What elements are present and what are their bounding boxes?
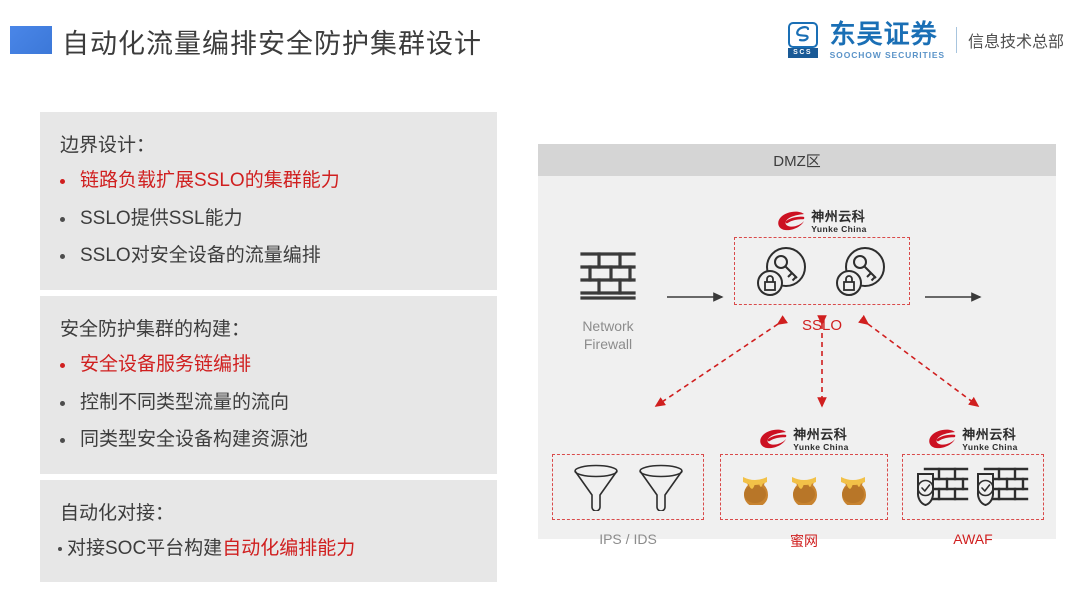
awaf-label: AWAF [902,531,1044,547]
node-honeynet: 神州云科 Yunke China [720,428,888,551]
bullet-item: 对接SOC平台构建自动化编排能力 [40,530,497,568]
bullet-item: SSLO提供SSL能力 [40,200,497,238]
panel-heading: 自动化对接： [40,493,497,530]
yunke-name-cn: 神州云科 [811,210,866,224]
dmz-zone-label: DMZ区 [773,150,821,171]
bullet-text-plain: 对接SOC平台构建 [67,538,222,559]
honeypot-icon [787,469,821,505]
arrow-sslo-ips [656,324,778,406]
bullet-text: 安全设备服务链编排 [80,352,251,378]
yunke-vendor-logo: 神州云科 Yunke China [759,428,848,452]
bullet-item: 同类型安全设备构建资源池 [40,421,497,459]
panel-automation-integration: 自动化对接： 对接SOC平台构建自动化编排能力 [40,480,497,583]
yunke-swoosh-icon [928,429,958,451]
bullet-dot-icon [60,438,65,443]
bullet-text: 同类型安全设备构建资源池 [80,427,308,453]
yunke-swoosh-icon [777,211,807,233]
awaf-device-group [902,454,1044,520]
node-sslo: 神州云科 Yunke China [734,210,910,334]
dmz-zone-header: DMZ区 [538,144,1056,176]
brick-wall-icon [578,248,638,304]
sslo-device-group [734,237,910,305]
yunke-name-en: Yunke China [811,224,866,234]
brand-text: 东吴证券 SOOCHOW SECURITIES [830,21,945,60]
bullet-item: 安全设备服务链编排 [40,346,497,384]
brand-divider [956,27,957,53]
bullet-item: 链路负载扩展SSLO的集群能力 [40,162,497,200]
yunke-name-cn: 神州云科 [962,428,1017,442]
yunke-vendor-logo: 神州云科 Yunke China [777,210,866,234]
bullet-text: SSLO对安全设备的流量编排 [80,243,321,269]
yunke-name-en: Yunke China [962,442,1017,452]
key-lock-icon [833,245,891,297]
architecture-diagram: DMZ区 [538,144,1056,539]
bullet-item: 控制不同类型流量的流向 [40,384,497,422]
funnel-icon [636,463,686,511]
scs-badge: SCS [788,48,818,58]
bullet-text: SSLO提供SSL能力 [80,206,243,232]
brand-lockup: SCS 东吴证券 SOOCHOW SECURITIES 信息技术总部 [788,20,1064,60]
honeypot-icon [836,469,870,505]
ips-device-group [552,454,704,520]
honeynet-label: 蜜网 [720,531,888,551]
honeynet-device-group [720,454,888,520]
panel-heading: 安全防护集群的构建： [40,309,497,346]
bullet-dot-icon [60,401,65,406]
arrow-firewall-to-sslo [666,291,728,303]
brand-department: 信息技术总部 [968,28,1064,52]
bullet-dot-icon [60,363,65,368]
yunke-name-cn: 神州云科 [793,428,848,442]
sslo-label: SSLO [734,317,910,334]
panel-security-cluster: 安全防护集群的构建： 安全设备服务链编排 控制不同类型流量的流向 同类型安全设备… [40,296,497,474]
bullet-text: 对接SOC平台构建自动化编排能力 [67,536,355,562]
ips-ids-label: IPS / IDS [552,531,704,549]
bullet-dot-icon [60,254,65,259]
panel-boundary-design: 边界设计： 链路负载扩展SSLO的集群能力 SSLO提供SSL能力 SSLO对安… [40,112,497,290]
shield-wall-icon [975,464,1031,510]
firewall-label: Network Firewall [548,318,668,353]
arrow-sslo-awaf [868,324,978,406]
bullet-text-highlight: 自动化编排能力 [222,538,355,559]
bullet-text: 控制不同类型流量的流向 [80,390,289,416]
bullet-item: SSLO对安全设备的流量编排 [40,237,497,275]
node-awaf: 神州云科 Yunke China [902,428,1044,547]
panel-heading: 边界设计： [40,125,497,162]
soochow-logo-icon: SCS [788,22,824,58]
bullet-text: 链路负载扩展SSLO的集群能力 [80,168,340,194]
brand-name-en: SOOCHOW SECURITIES [830,50,945,60]
logo-swoosh-icon [793,26,813,44]
node-ips-ids: IPS / IDS [552,428,704,549]
funnel-icon [571,463,621,511]
node-network-firewall: Network Firewall [548,248,668,353]
content-panels: 边界设计： 链路负载扩展SSLO的集群能力 SSLO提供SSL能力 SSLO对安… [40,112,497,588]
bullet-dot-icon [60,179,65,184]
honeypot-icon [738,469,772,505]
page-title: 自动化流量编排安全防护集群设计 [62,22,482,61]
diagram-body: Network Firewall [538,176,1056,539]
shield-wall-icon [915,464,971,510]
brand-name-cn: 东吴证券 [830,21,945,47]
yunke-swoosh-icon [759,429,789,451]
yunke-name-en: Yunke China [793,442,848,452]
key-lock-icon [754,245,812,297]
page-header: 自动化流量编排安全防护集群设计 SCS 东吴证券 SOOCHOW SECURIT… [0,0,1080,92]
title-accent-bar [10,26,52,54]
bullet-dot-icon [60,217,65,222]
yunke-vendor-logo: 神州云科 Yunke China [928,428,1017,452]
arrow-sslo-to-outbound [924,291,986,303]
bullet-dot-icon [58,547,62,551]
